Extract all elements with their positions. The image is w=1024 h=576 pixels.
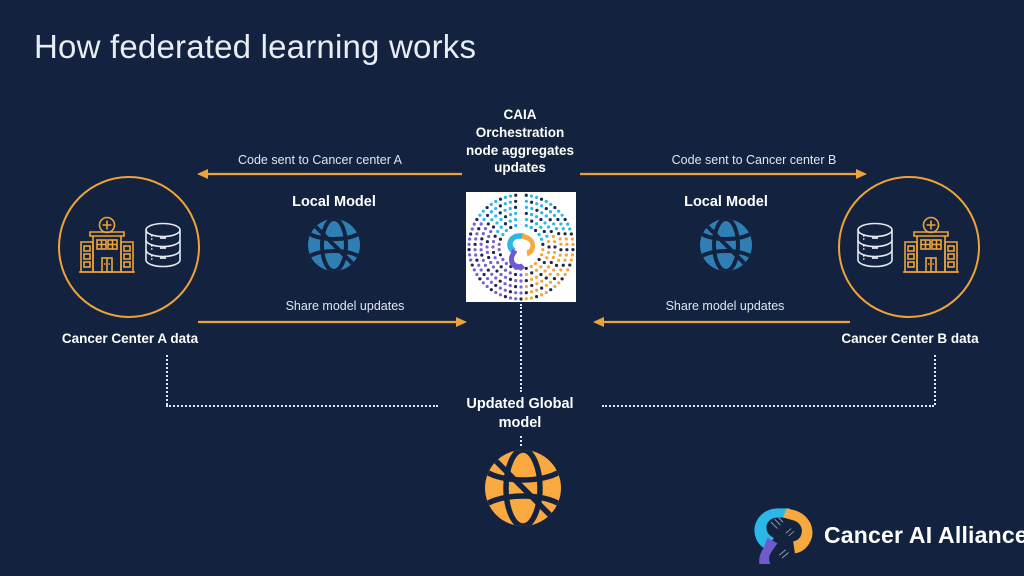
- arrow-left-icon: [196, 166, 462, 182]
- arrow-code-to-b: [580, 166, 868, 187]
- brand-name: Cancer AI Alliance: [824, 522, 1024, 549]
- database-icon: [854, 221, 896, 273]
- arrow-label-code-to-a: Code sent to Cancer center A: [200, 153, 440, 167]
- arrow-updates-from-b: [592, 314, 850, 335]
- dotted-connector-a-vertical: [166, 355, 168, 405]
- local-model-a: Local Model: [264, 194, 404, 274]
- hub-caption-line-2: Orchestration: [444, 124, 596, 142]
- hospital-icon: [74, 216, 140, 278]
- caia-orchestration-panel: [466, 192, 576, 302]
- local-model-b-icon-wrap: [656, 216, 796, 274]
- arrow-right-icon: [580, 166, 868, 182]
- arrow-right-icon: [198, 314, 468, 330]
- caia-logo-icon: [752, 506, 814, 564]
- arrow-label-updates-from-b: Share model updates: [600, 299, 850, 313]
- blue-globe-icon: [697, 216, 755, 274]
- hub-caption-line-3: node aggregates: [444, 142, 596, 160]
- dotted-connector-global-vertical: [520, 436, 522, 446]
- local-model-a-icon-wrap: [264, 216, 404, 274]
- local-model-b-label: Local Model: [656, 194, 796, 210]
- orange-globe-icon: [481, 446, 565, 530]
- dotted-connector-b-vertical: [934, 355, 936, 405]
- local-model-a-label: Local Model: [264, 194, 404, 210]
- dotted-connector-a-horizontal: [166, 405, 438, 407]
- cancer-center-b-icons: [838, 176, 980, 318]
- updated-global-model-icon-wrap: [481, 446, 565, 535]
- dotted-connector-b-horizontal: [602, 405, 934, 407]
- hub-caption-line-4: updates: [444, 159, 596, 177]
- brand-logo: Cancer AI Alliance: [752, 506, 1024, 564]
- database-icon: [142, 221, 184, 273]
- arrow-left-icon: [592, 314, 850, 330]
- arrow-code-to-a: [196, 166, 462, 187]
- local-model-b: Local Model: [656, 194, 796, 274]
- arrow-updates-from-a: [198, 314, 468, 335]
- slide-canvas: How federated learning works CAIA Orches…: [0, 0, 1024, 576]
- page-title: How federated learning works: [34, 28, 476, 66]
- cancer-center-a-icons: [58, 176, 200, 318]
- hub-caption-line-1: CAIA: [444, 106, 596, 124]
- arrow-label-updates-from-a: Share model updates: [220, 299, 470, 313]
- updated-global-model-label: Updated Global model: [440, 395, 600, 433]
- blue-globe-icon: [305, 216, 363, 274]
- updated-global-model-line-2: model: [440, 414, 600, 433]
- hospital-icon: [898, 216, 964, 278]
- arrow-label-code-to-b: Code sent to Cancer center B: [620, 153, 888, 167]
- caia-orchestration-icon: [466, 192, 576, 302]
- updated-global-model-line-1: Updated Global: [440, 395, 600, 414]
- dotted-connector-hub-vertical: [520, 304, 522, 392]
- hub-caption: CAIA Orchestration node aggregates updat…: [444, 106, 596, 177]
